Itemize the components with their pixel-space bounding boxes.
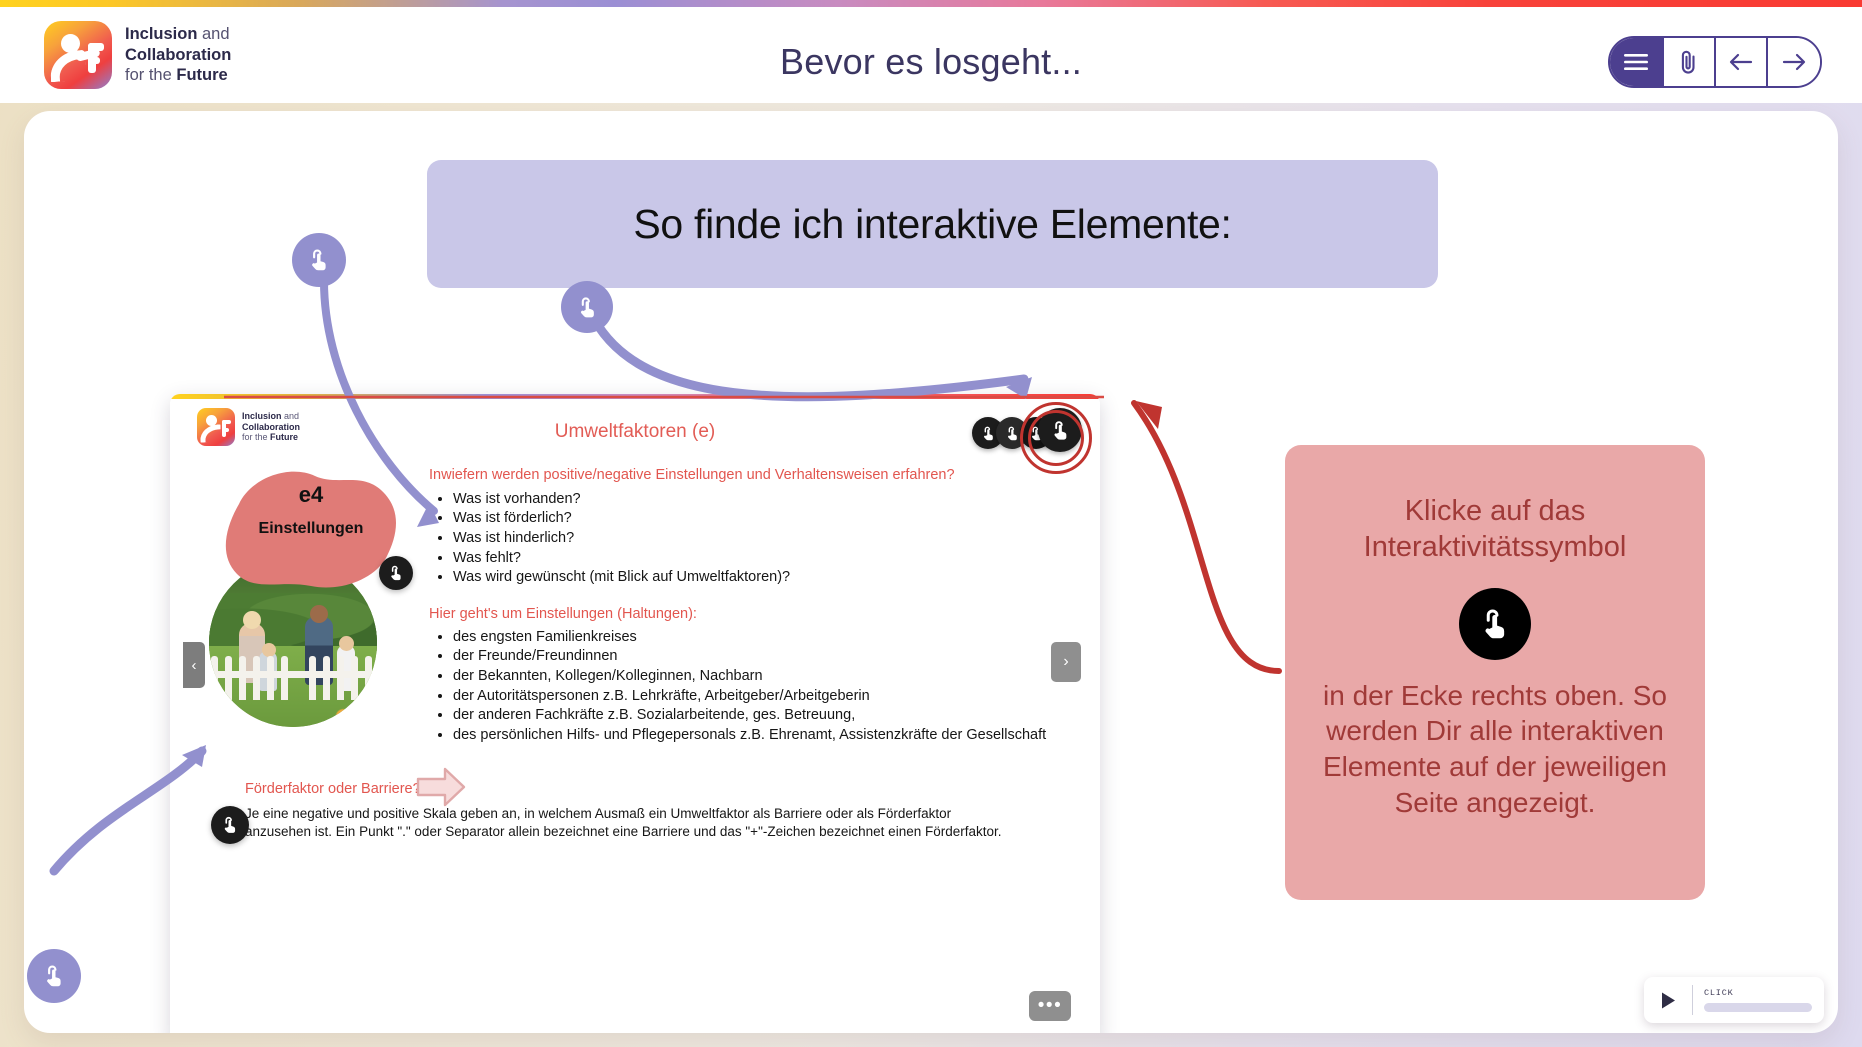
banner-text: So finde ich interaktive Elemente: bbox=[633, 201, 1231, 248]
tap-hand-icon bbox=[41, 963, 67, 989]
highlight-ring bbox=[1020, 402, 1092, 474]
document-text-column: Inwiefern werden positive/negative Einst… bbox=[429, 466, 1069, 747]
instruction-callout: Klicke auf das Interaktivitätssymbol in … bbox=[1285, 445, 1705, 900]
carousel-prev-button[interactable]: ‹ bbox=[183, 642, 205, 688]
list-item: der Autoritätspersonen z.B. Lehrkräfte, … bbox=[453, 688, 1069, 706]
tap-hand-icon bbox=[575, 295, 600, 320]
arrow-left-icon bbox=[1728, 51, 1754, 73]
audio-player[interactable]: CLICK bbox=[1644, 977, 1824, 1023]
tap-hand-icon bbox=[220, 815, 240, 835]
list-item: des engsten Familienkreises bbox=[453, 629, 1069, 647]
paperclip-icon bbox=[1679, 49, 1699, 75]
tap-badge-2[interactable] bbox=[561, 281, 613, 333]
list-item: Was ist hinderlich? bbox=[453, 530, 1069, 548]
list-item: Was ist förderlich? bbox=[453, 510, 1069, 528]
carousel-next-button[interactable]: › bbox=[1051, 642, 1081, 682]
callout-text-bottom: in der Ecke rechts oben. So werden Dir a… bbox=[1306, 678, 1684, 821]
slide-banner: So finde ich interaktive Elemente: bbox=[427, 160, 1438, 288]
tap-hand-icon bbox=[387, 564, 405, 582]
tap-badge-3[interactable] bbox=[27, 949, 81, 1003]
tap-hand-icon bbox=[1477, 606, 1513, 642]
callout-text-top: Klicke auf das Interaktivitätssymbol bbox=[1315, 493, 1675, 566]
app-header: Inclusion and Collaboration for the Futu… bbox=[0, 7, 1862, 103]
header-toolbar bbox=[1608, 36, 1822, 88]
section3-body: Je eine negative und positive Skala gebe… bbox=[245, 805, 1005, 841]
tap-hand-icon bbox=[306, 247, 332, 273]
section1-heading: Inwiefern werden positive/negative Einst… bbox=[429, 466, 1069, 486]
inline-tap-icon-2[interactable] bbox=[211, 806, 249, 844]
category-code: e4 bbox=[211, 482, 411, 508]
inclusion-logo-icon bbox=[44, 21, 112, 89]
tap-hand-icon bbox=[980, 425, 997, 442]
list-item: Was fehlt? bbox=[453, 550, 1069, 568]
category-name: Einstellungen bbox=[211, 520, 411, 538]
callout-tap-badge bbox=[1459, 588, 1531, 660]
embedded-document[interactable]: Inclusion and Collaboration for the Futu… bbox=[170, 394, 1100, 1033]
list-item: der Freunde/Freundinnen bbox=[453, 648, 1069, 666]
document-header: Inclusion and Collaboration for the Futu… bbox=[170, 399, 1100, 455]
page-title: Bevor es losgeht... bbox=[0, 14, 1862, 110]
menu-button[interactable] bbox=[1610, 38, 1664, 86]
document-section3: Förderfaktor oder Barriere? Je eine nega… bbox=[215, 780, 1005, 841]
slide-canvas: So finde ich interaktive Elemente: bbox=[24, 111, 1838, 1033]
arrow-right-icon bbox=[1781, 51, 1807, 73]
logo-line3-bold: Future bbox=[176, 66, 227, 84]
document-more-button[interactable]: ••• bbox=[1029, 991, 1071, 1021]
play-button[interactable] bbox=[1644, 991, 1692, 1010]
list-item: des persönlichen Hilfs- und Pflegeperson… bbox=[453, 727, 1069, 745]
section2-heading: Hier geht's um Einstellungen (Haltungen)… bbox=[429, 605, 1069, 625]
inline-tap-icon-1[interactable] bbox=[379, 556, 413, 590]
brand-logo: Inclusion and Collaboration for the Futu… bbox=[44, 21, 231, 89]
player-info: CLICK bbox=[1693, 988, 1824, 1012]
menu-icon bbox=[1623, 53, 1649, 71]
document-body: e4 Einstellungen ‹ bbox=[183, 460, 1087, 1033]
document-title: Umweltfaktoren (e) bbox=[170, 404, 1100, 460]
category-blob-label: e4 Einstellungen bbox=[211, 482, 411, 538]
brand-logo-text: Inclusion and Collaboration for the Futu… bbox=[125, 24, 231, 86]
list-item: Was wird gewünscht (mit Blick auf Umwelt… bbox=[453, 569, 1069, 587]
top-gradient-rule bbox=[0, 0, 1862, 7]
play-icon bbox=[1660, 991, 1677, 1010]
list-item: Was ist vorhanden? bbox=[453, 491, 1069, 509]
previous-button[interactable] bbox=[1716, 38, 1768, 86]
next-button[interactable] bbox=[1768, 38, 1820, 86]
player-track-label: CLICK bbox=[1704, 988, 1824, 998]
section3-heading: Förderfaktor oder Barriere? bbox=[245, 780, 1005, 799]
list-item: der anderen Fachkräfte z.B. Sozialarbeit… bbox=[453, 707, 1069, 725]
logo-line1-bold: Inclusion bbox=[125, 25, 197, 43]
logo-line1-thin: and bbox=[197, 25, 229, 43]
list-item: der Bekannten, Kollegen/Kolleginnen, Nac… bbox=[453, 668, 1069, 686]
attachment-button[interactable] bbox=[1664, 38, 1716, 86]
section1-list: Was ist vorhanden? Was ist förderlich? W… bbox=[453, 491, 1069, 587]
logo-line3-thin: for the bbox=[125, 66, 176, 84]
section2-list: des engsten Familienkreises der Freunde/… bbox=[453, 629, 1069, 745]
player-progress-bar[interactable] bbox=[1704, 1003, 1812, 1012]
tap-hand-icon bbox=[1004, 425, 1021, 442]
tap-badge-1[interactable] bbox=[292, 233, 346, 287]
pink-arrow-icon bbox=[415, 766, 467, 808]
logo-line2-bold: Collaboration bbox=[125, 46, 231, 64]
